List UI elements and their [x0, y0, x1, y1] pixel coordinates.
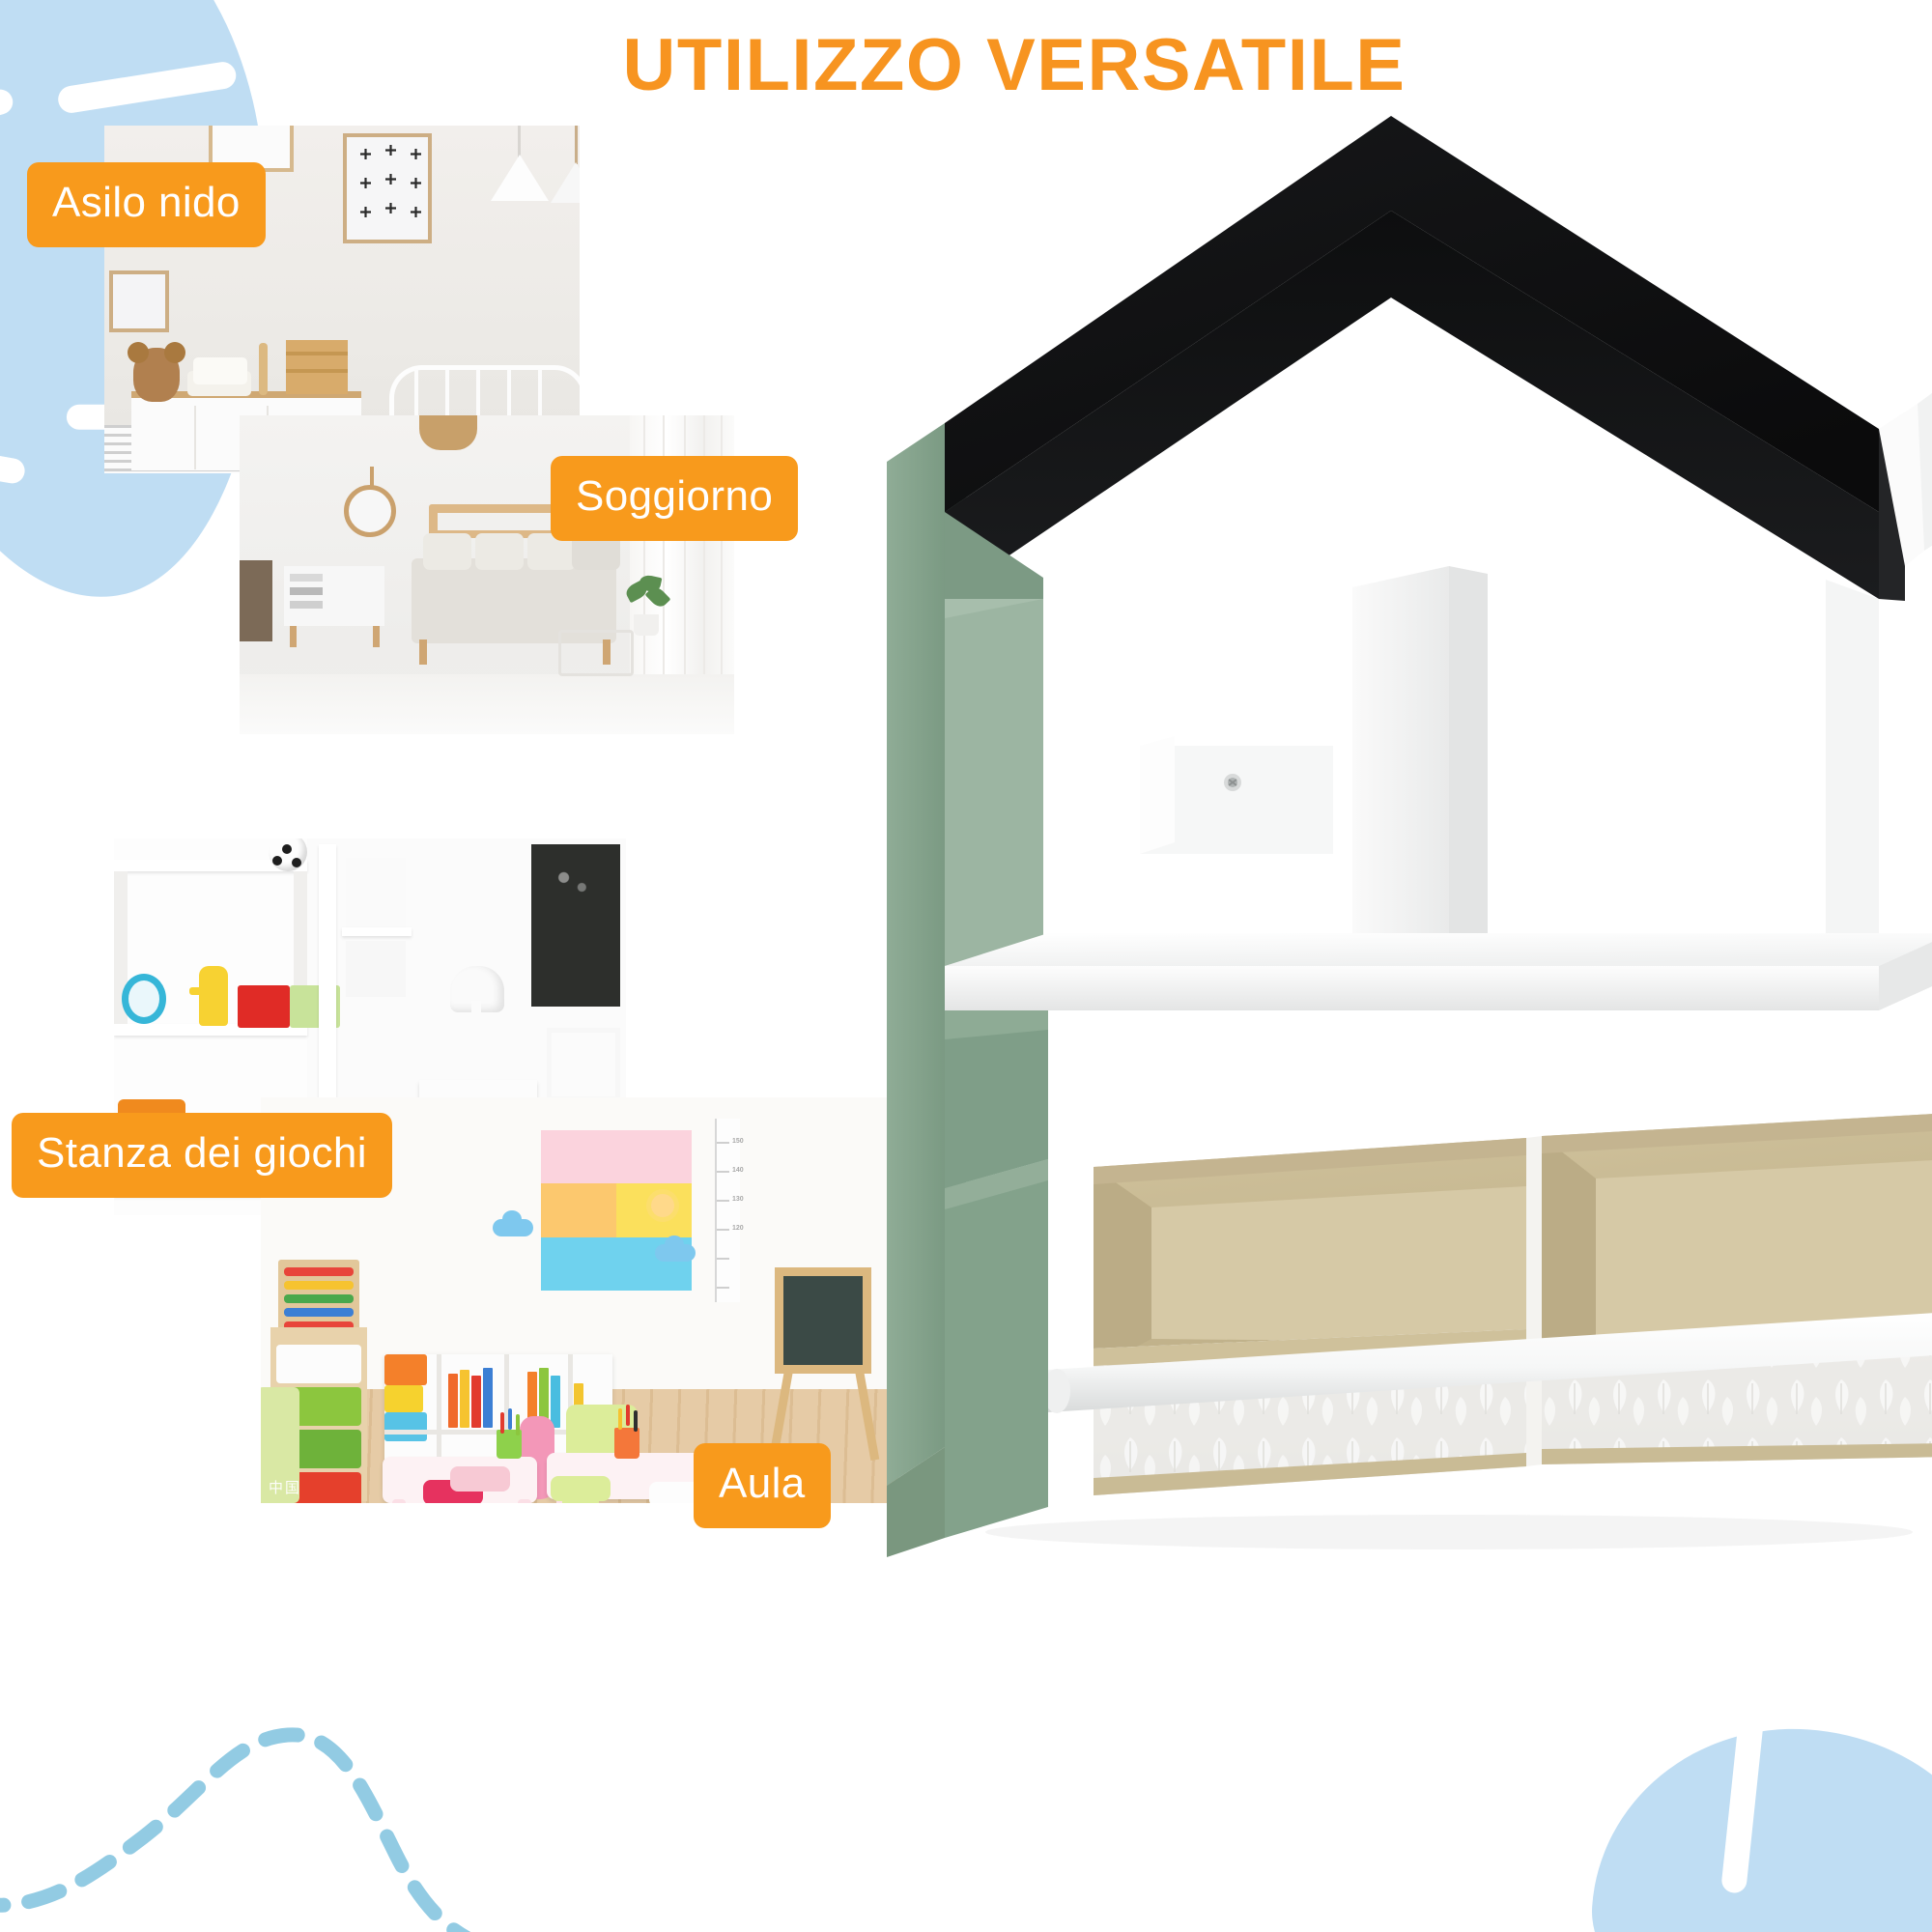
badge-soggiorno: Soggiorno — [551, 456, 798, 541]
image-watermark: 中国 — [269, 1477, 301, 1497]
badge-asilo-nido: Asilo nido — [27, 162, 266, 247]
page-title: UTILIZZO VERSATILE — [580, 27, 1449, 104]
product-image-kids-storage-shelf — [850, 97, 1932, 1565]
dashed-wave-decoration — [0, 1613, 522, 1932]
infographic-canvas: UTILIZZO VERSATILE — [0, 0, 1932, 1932]
badge-stanza-dei-giochi: Stanza dei giochi — [12, 1113, 392, 1198]
blue-blob-dash — [1720, 1690, 1767, 1894]
blue-blob-bottom-right — [1583, 1716, 1932, 1932]
badge-aula: Aula — [694, 1443, 831, 1528]
